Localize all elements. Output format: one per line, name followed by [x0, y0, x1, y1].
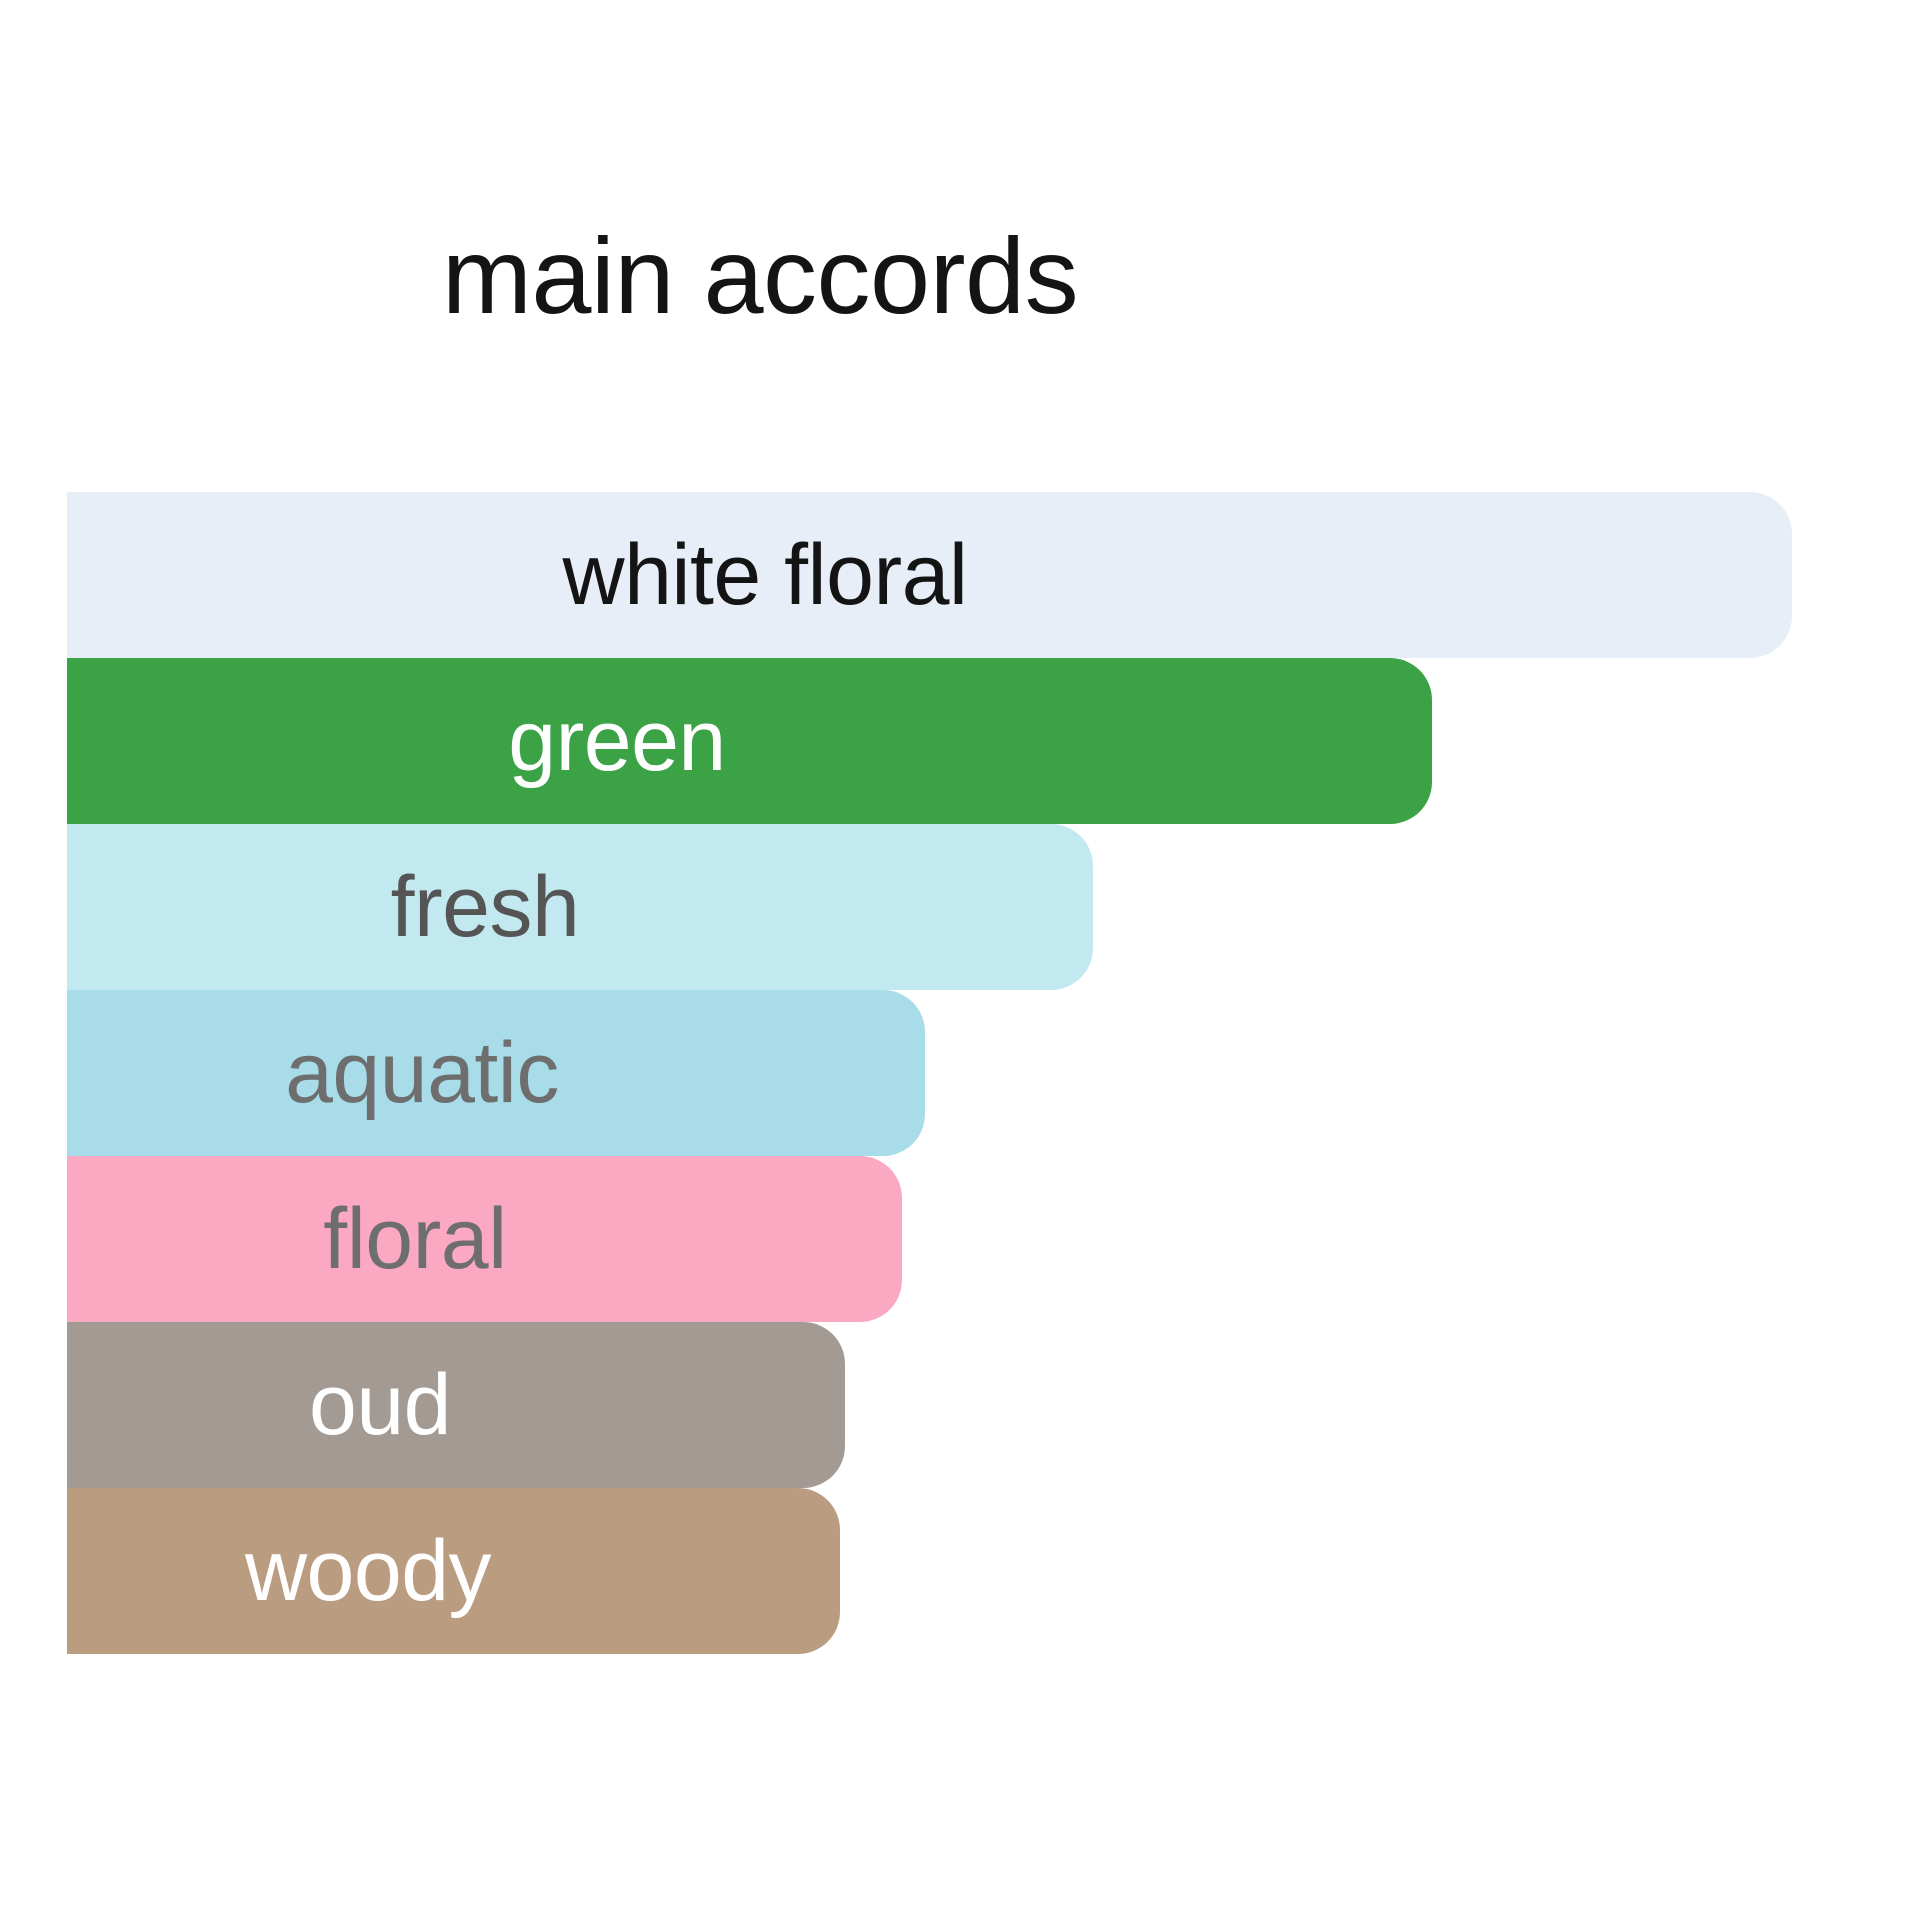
accord-label: woody	[245, 1488, 491, 1654]
accord-label: white floral	[562, 492, 967, 658]
accord-bar-fill	[67, 824, 1093, 990]
accord-label: oud	[309, 1322, 451, 1488]
accord-label: aquatic	[285, 990, 559, 1156]
accord-label: fresh	[391, 824, 580, 990]
accord-row[interactable]: aquatic	[67, 990, 1867, 1156]
accord-bar-list: white floralgreenfreshaquaticfloraloudwo…	[67, 492, 1867, 1654]
accord-row[interactable]: white floral	[67, 492, 1867, 658]
accord-row[interactable]: woody	[67, 1488, 1867, 1654]
accord-row[interactable]: fresh	[67, 824, 1867, 990]
accord-label: green	[508, 658, 725, 824]
accord-bar-fill	[67, 1322, 845, 1488]
accord-label: floral	[323, 1156, 506, 1322]
accord-row[interactable]: floral	[67, 1156, 1867, 1322]
accord-row[interactable]: oud	[67, 1322, 1867, 1488]
accord-bar-fill	[67, 658, 1432, 824]
page-title: main accords	[0, 216, 1520, 336]
accord-row[interactable]: green	[67, 658, 1867, 824]
main-accords-chart: main accords white floralgreenfreshaquat…	[0, 0, 1920, 1920]
